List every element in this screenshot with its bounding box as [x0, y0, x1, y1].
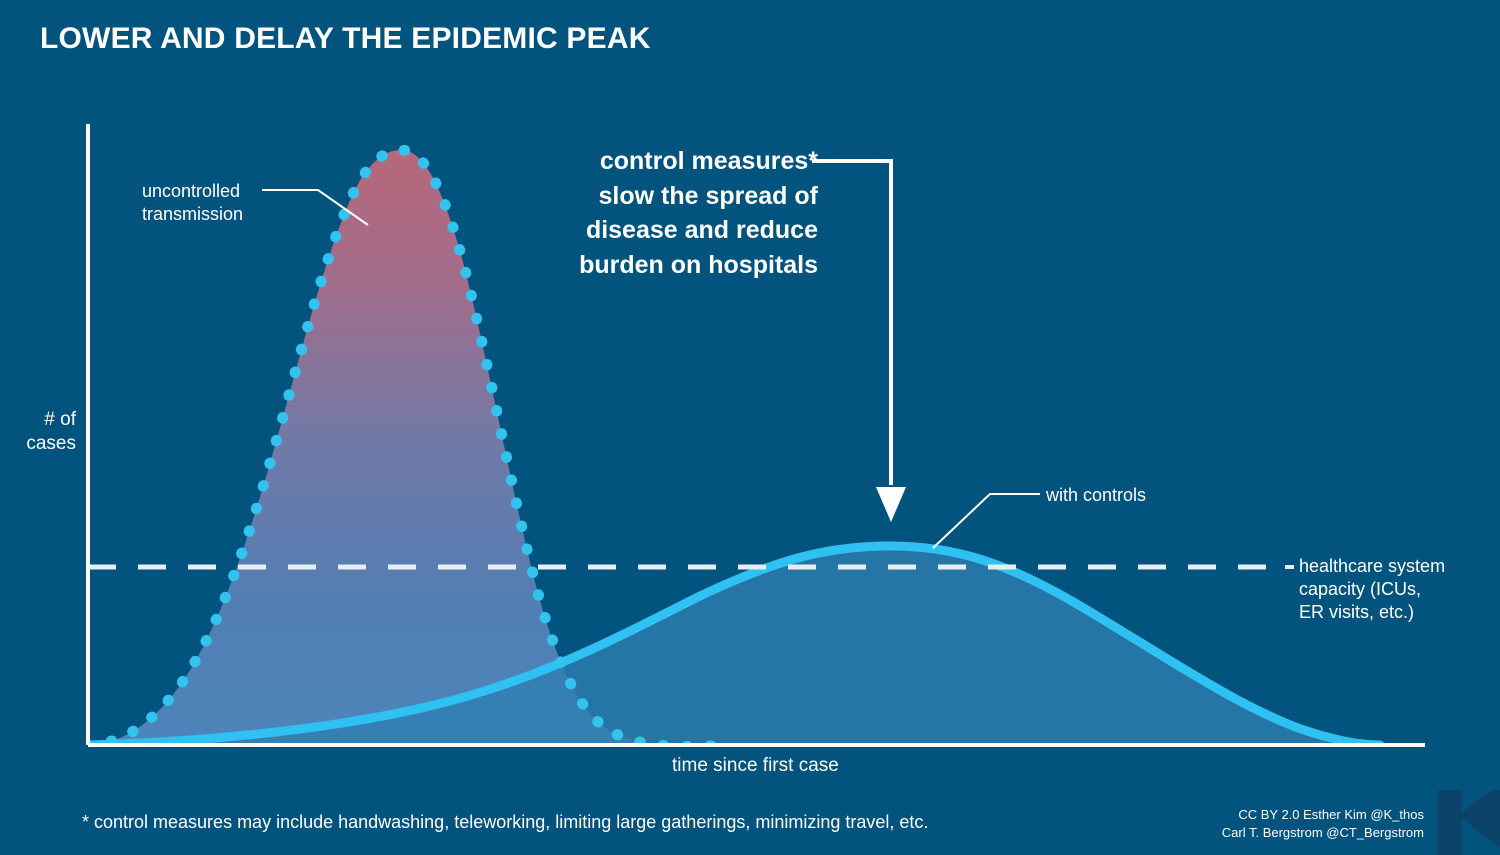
- credit-line-1: CC BY 2.0 Esther Kim @K_thos: [1222, 806, 1424, 824]
- logo-watermark: [1428, 784, 1500, 855]
- capacity-label-line-3: ER visits, etc.): [1299, 601, 1479, 624]
- credit-block: CC BY 2.0 Esther Kim @K_thos Carl T. Ber…: [1222, 806, 1424, 841]
- footnote-text: * control measures may include handwashi…: [82, 812, 928, 833]
- with-controls-leader-line: [933, 494, 1040, 548]
- uncontrolled-transmission-label: uncontrolled transmission: [142, 180, 272, 226]
- callout-line-2: slow the spread of: [470, 179, 818, 214]
- callout-text-block: control measures* slow the spread of dis…: [470, 144, 818, 282]
- callout-leader-line: [812, 161, 891, 485]
- credit-line-2: Carl T. Bergstrom @CT_Bergstrom: [1222, 824, 1424, 842]
- capacity-label-line-2: capacity (ICUs,: [1299, 578, 1479, 601]
- callout-line-3: disease and reduce: [470, 213, 818, 248]
- page-title: LOWER AND DELAY THE EPIDEMIC PEAK: [40, 22, 651, 56]
- uncontrolled-label-line-1: uncontrolled: [142, 180, 272, 203]
- capacity-label-line-1: healthcare system: [1299, 555, 1479, 578]
- callout-line-1: control measures*: [470, 144, 818, 179]
- uncontrolled-label-line-2: transmission: [142, 203, 272, 226]
- callout-line-4: burden on hospitals: [470, 248, 818, 283]
- y-axis-label-line-1: # of: [4, 408, 76, 432]
- x-axis-label: time since first case: [672, 754, 839, 778]
- y-axis-label: # of cases: [4, 408, 76, 457]
- callout-arrowhead-icon: [876, 487, 906, 522]
- capacity-label: healthcare system capacity (ICUs, ER vis…: [1299, 555, 1479, 624]
- with-controls-label: with controls: [1046, 484, 1146, 507]
- epidemic-curve-chart: [0, 0, 1500, 855]
- y-axis-label-line-2: cases: [4, 432, 76, 456]
